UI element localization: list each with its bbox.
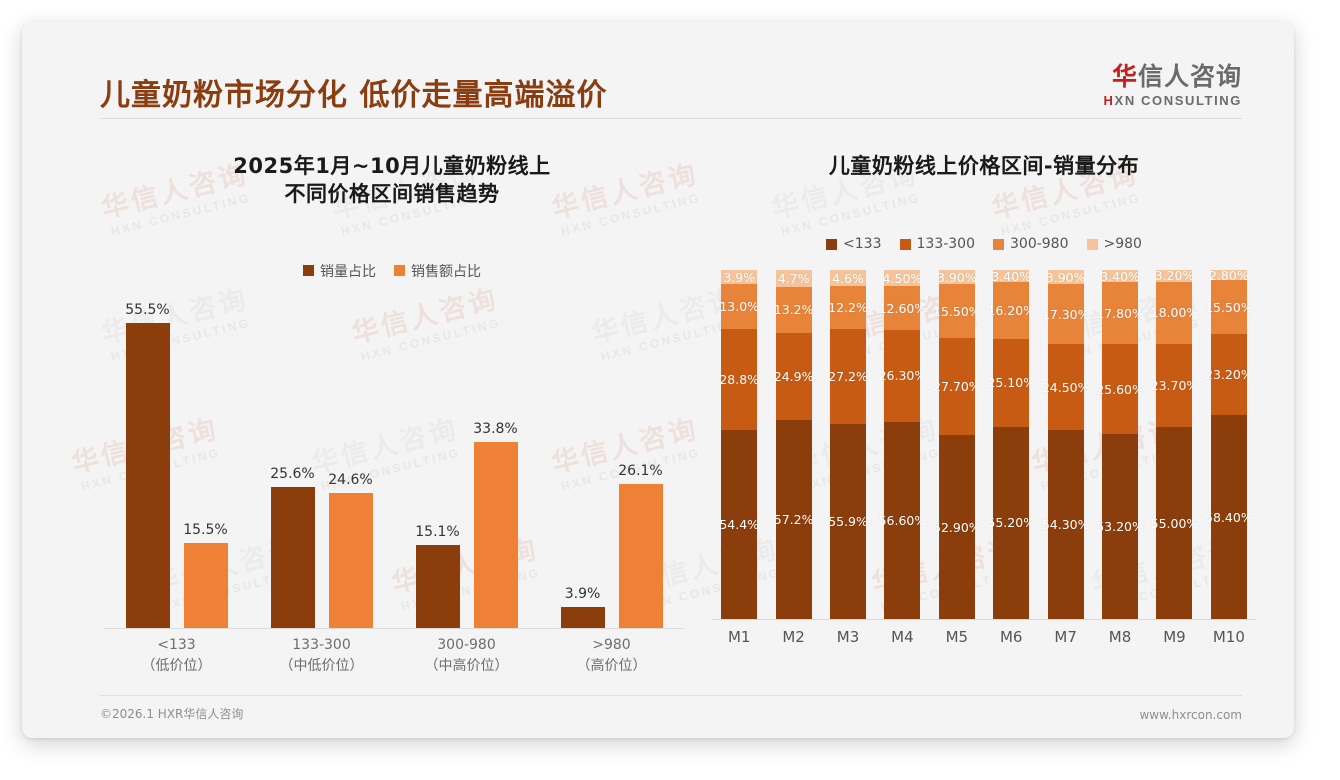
- stacked-segment-label: 16.20%: [987, 303, 1035, 318]
- bar-value-label: 55.5%: [125, 302, 169, 318]
- x-axis-label-range: <133: [104, 635, 249, 656]
- bar-group: 25.6%24.6%: [249, 299, 394, 628]
- legend-item[interactable]: <133: [826, 236, 881, 252]
- stacked-segment-label: 54.4%: [719, 517, 759, 532]
- legend-label: 销售额占比: [411, 261, 481, 281]
- stacked-segment-label: 57.2%: [774, 512, 814, 527]
- x-axis-label: 300-980（中高价位）: [394, 635, 539, 677]
- stacked-segment-label: 27.70%: [933, 379, 981, 394]
- legend-item[interactable]: 销售额占比: [394, 261, 481, 281]
- stacked-bar-column[interactable]: 4.7%13.2%24.9%57.2%: [766, 270, 820, 619]
- bar-column[interactable]: 3.9%: [561, 299, 605, 628]
- bar[interactable]: [561, 607, 605, 628]
- bar-column[interactable]: 55.5%: [126, 299, 170, 628]
- stacked-bar[interactable]: 3.40%17.80%25.60%53.20%: [1102, 270, 1138, 619]
- x-axis-label: M10: [1202, 628, 1256, 646]
- stacked-segment-label: 3.90%: [1046, 270, 1086, 285]
- x-axis-label-range: 300-980: [394, 635, 539, 656]
- right-chart-title: 儿童奶粉线上价格区间-销量分布: [698, 130, 1270, 180]
- stacked-bar-column[interactable]: 3.90%17.30%24.50%54.30%: [1038, 270, 1092, 619]
- x-axis-label-tier: （中低价位）: [249, 656, 394, 677]
- stacked-bar-segment[interactable]: 23.20%: [1211, 334, 1247, 415]
- stacked-segment-label: 53.20%: [1096, 519, 1144, 534]
- header-divider: [100, 118, 1242, 119]
- stacked-bar-segment[interactable]: 4.6%: [830, 270, 866, 286]
- page-title: 儿童奶粉市场分化 低价走量高端溢价: [100, 70, 607, 114]
- stacked-bar-segment[interactable]: 15.50%: [939, 284, 975, 338]
- legend-swatch-icon: [826, 239, 837, 250]
- bar-group: 55.5%15.5%: [104, 299, 249, 628]
- bar[interactable]: [184, 543, 228, 628]
- stacked-bar-segment[interactable]: 28.8%: [721, 329, 757, 429]
- stacked-bar-column[interactable]: 3.90%15.50%27.70%52.90%: [930, 270, 984, 619]
- stacked-segment-label: 15.50%: [933, 304, 981, 319]
- x-axis-label: 133-300（中低价位）: [249, 635, 394, 677]
- stacked-bar-segment[interactable]: 3.9%: [721, 270, 757, 284]
- x-axis-label-tier: （低价位）: [104, 656, 249, 677]
- stacked-bar-column[interactable]: 4.50%12.60%26.30%56.60%: [875, 270, 929, 619]
- left-chart-legend: 销量占比销售额占比: [82, 261, 702, 281]
- legend-swatch-icon: [1087, 239, 1098, 250]
- legend-swatch-icon: [993, 239, 1004, 250]
- stacked-bar-segment[interactable]: 24.50%: [1048, 344, 1084, 430]
- brand-logo: 华信人咨询 HXN CONSULTING: [1104, 64, 1242, 108]
- bar[interactable]: [474, 442, 518, 628]
- stacked-segment-label: 55.20%: [987, 515, 1035, 530]
- stacked-bar-column[interactable]: 2.80%15.50%23.20%58.40%: [1202, 270, 1256, 619]
- stacked-bar[interactable]: 4.6%12.2%27.2%55.9%: [830, 270, 866, 619]
- legend-item[interactable]: 销量占比: [303, 261, 376, 281]
- stacked-bar-segment[interactable]: 53.20%: [1102, 434, 1138, 620]
- chart-panel-left: 2025年1月~10月儿童奶粉线上 不同价格区间销售趋势 销量占比销售额占比 5…: [82, 130, 702, 710]
- stacked-bar-segment[interactable]: 17.30%: [1048, 284, 1084, 344]
- stacked-segment-label: 3.90%: [937, 270, 977, 285]
- bar[interactable]: [619, 484, 663, 628]
- legend-label: 300-980: [1010, 236, 1069, 252]
- stacked-bar-segment[interactable]: 3.90%: [1048, 270, 1084, 284]
- stacked-segment-label: 23.70%: [1151, 378, 1199, 393]
- stacked-bar[interactable]: 2.80%15.50%23.20%58.40%: [1211, 270, 1247, 619]
- bar-value-label: 33.8%: [473, 421, 517, 437]
- bar-value-label: 15.1%: [415, 524, 459, 540]
- footer-divider: [100, 695, 1242, 696]
- stacked-bar-segment[interactable]: 27.70%: [939, 338, 975, 435]
- x-axis-label-tier: （高价位）: [539, 656, 684, 677]
- stacked-bar-segment[interactable]: 4.50%: [884, 270, 920, 286]
- stacked-bar-segment[interactable]: 3.90%: [939, 270, 975, 284]
- bar[interactable]: [271, 487, 315, 628]
- stacked-segment-label: 18.00%: [1151, 305, 1199, 320]
- stacked-bar-segment[interactable]: 23.70%: [1156, 344, 1192, 427]
- stacked-bar-segment[interactable]: 54.30%: [1048, 430, 1084, 619]
- stacked-segment-label: 17.30%: [1042, 307, 1090, 322]
- stacked-bar[interactable]: 3.90%17.30%24.50%54.30%: [1048, 270, 1084, 619]
- stacked-bar-segment[interactable]: 56.60%: [884, 422, 920, 620]
- stacked-segment-label: 56.60%: [879, 513, 927, 528]
- stacked-bar-segment[interactable]: 55.9%: [830, 424, 866, 619]
- left-chart-title-line1: 2025年1月~10月儿童奶粉线上: [82, 152, 702, 180]
- right-chart-x-labels: M1M2M3M4M5M6M7M8M9M10: [712, 628, 1256, 646]
- bar-value-label: 24.6%: [328, 472, 372, 488]
- stacked-segment-label: 25.10%: [987, 375, 1035, 390]
- left-chart-x-labels: <133（低价位）133-300（中低价位）300-980（中高价位）>980（…: [104, 635, 684, 677]
- bar-column[interactable]: 26.1%: [619, 299, 663, 628]
- legend-swatch-icon: [394, 265, 405, 276]
- stacked-bar-segment[interactable]: 55.00%: [1156, 427, 1192, 619]
- stacked-bar-column[interactable]: 3.9%13.0%28.8%54.4%: [712, 270, 766, 619]
- left-chart-plot: 55.5%15.5%25.6%24.6%15.1%33.8%3.9%26.1% …: [82, 299, 702, 629]
- x-axis-label-range: >980: [539, 635, 684, 656]
- left-chart-title-line2: 不同价格区间销售趋势: [82, 180, 702, 208]
- stacked-bar-segment[interactable]: 13.2%: [776, 287, 812, 333]
- x-axis-label: >980（高价位）: [539, 635, 684, 677]
- stacked-segment-label: 23.20%: [1205, 367, 1253, 382]
- stacked-bar-segment[interactable]: 25.60%: [1102, 344, 1138, 433]
- stacked-segment-label: 28.8%: [719, 372, 759, 387]
- stacked-bar-segment[interactable]: 3.40%: [1102, 270, 1138, 282]
- bar-column[interactable]: 24.6%: [329, 299, 373, 628]
- right-chart-x-axis: [712, 619, 1256, 620]
- stacked-bar-segment[interactable]: 57.2%: [776, 420, 812, 620]
- bar-value-label: 26.1%: [618, 463, 662, 479]
- bar[interactable]: [329, 493, 373, 628]
- stacked-segment-label: 12.60%: [879, 301, 927, 316]
- x-axis-label: M3: [821, 628, 875, 646]
- chart-panel-right: 儿童奶粉线上价格区间-销量分布 <133133-300300-980>980 3…: [698, 130, 1270, 710]
- x-axis-label: M6: [984, 628, 1038, 646]
- bar-value-label: 3.9%: [565, 586, 601, 602]
- stacked-bar-segment[interactable]: 13.0%: [721, 284, 757, 329]
- slide-header: 儿童奶粉市场分化 低价走量高端溢价 华信人咨询 HXN CONSULTING: [22, 22, 1294, 96]
- left-chart-x-axis: [104, 628, 684, 629]
- stacked-bar-segment[interactable]: 27.2%: [830, 329, 866, 424]
- logo-en-accent: H: [1104, 93, 1115, 108]
- stacked-bar-segment[interactable]: 3.40%: [993, 270, 1029, 282]
- x-axis-label: M2: [766, 628, 820, 646]
- legend-item[interactable]: 133-300: [900, 236, 976, 252]
- stacked-bar-segment[interactable]: 4.7%: [776, 270, 812, 286]
- stacked-bar-column[interactable]: 4.6%12.2%27.2%55.9%: [821, 270, 875, 619]
- bar-column[interactable]: 25.6%: [271, 299, 315, 628]
- x-axis-label-tier: （中高价位）: [394, 656, 539, 677]
- stacked-bar[interactable]: 3.20%18.00%23.70%55.00%: [1156, 270, 1192, 619]
- stacked-segment-label: 54.30%: [1042, 517, 1090, 532]
- x-axis-label: M8: [1093, 628, 1147, 646]
- stacked-bar-segment[interactable]: 24.9%: [776, 333, 812, 420]
- stacked-segment-label: 25.60%: [1096, 382, 1144, 397]
- stacked-segment-label: 4.50%: [883, 271, 923, 286]
- bar-column[interactable]: 15.5%: [184, 299, 228, 628]
- legend-swatch-icon: [303, 265, 314, 276]
- x-axis-label: M7: [1038, 628, 1092, 646]
- slide-card: 华信人咨询HXN CONSULTING华信人咨询HXN CONSULTING华信…: [22, 22, 1294, 738]
- legend-label: 133-300: [917, 236, 976, 252]
- stacked-bar-column[interactable]: 3.40%16.20%25.10%55.20%: [984, 270, 1038, 619]
- bar-column[interactable]: 33.8%: [474, 299, 518, 628]
- footer-website: www.hxrcon.com: [1139, 708, 1242, 722]
- legend-item[interactable]: 300-980: [993, 236, 1069, 252]
- stacked-segment-label: 4.6%: [832, 271, 864, 286]
- x-axis-label: M9: [1147, 628, 1201, 646]
- footer-copyright: ©2026.1 HXR华信人咨询: [100, 705, 243, 722]
- stacked-bar[interactable]: 3.90%15.50%27.70%52.90%: [939, 270, 975, 619]
- logo-chinese: 华信人咨询: [1104, 64, 1242, 90]
- logo-en-rest: XN CONSULTING: [1115, 93, 1242, 108]
- bar[interactable]: [416, 545, 460, 628]
- stacked-bar[interactable]: 3.40%16.20%25.10%55.20%: [993, 270, 1029, 619]
- stacked-segment-label: 26.30%: [879, 368, 927, 383]
- stacked-bar[interactable]: 4.7%13.2%24.9%57.2%: [776, 270, 812, 619]
- x-axis-label-range: 133-300: [249, 635, 394, 656]
- stacked-segment-label: 17.80%: [1096, 306, 1144, 321]
- bar-group: 3.9%26.1%: [539, 299, 684, 628]
- stacked-bar-segment[interactable]: 58.40%: [1211, 415, 1247, 619]
- stacked-segment-label: 58.40%: [1205, 510, 1253, 525]
- stacked-bar-column[interactable]: 3.40%17.80%25.60%53.20%: [1093, 270, 1147, 619]
- stacked-bar-segment[interactable]: 55.20%: [993, 427, 1029, 620]
- stacked-segment-label: 55.00%: [1151, 516, 1199, 531]
- legend-swatch-icon: [900, 239, 911, 250]
- stacked-bar-segment[interactable]: 12.60%: [884, 286, 920, 330]
- stacked-bar-segment[interactable]: 12.2%: [830, 286, 866, 329]
- stacked-segment-label: 4.7%: [778, 271, 810, 286]
- stacked-bar-segment[interactable]: 15.50%: [1211, 280, 1247, 334]
- stacked-segment-label: 24.9%: [774, 369, 814, 384]
- legend-label: 销量占比: [320, 261, 376, 281]
- bar[interactable]: [126, 323, 170, 628]
- stacked-segment-label: 52.90%: [933, 520, 981, 535]
- right-chart-legend: <133133-300300-980>980: [698, 236, 1270, 252]
- stacked-segment-label: 24.50%: [1042, 380, 1090, 395]
- stacked-bar-segment[interactable]: 26.30%: [884, 330, 920, 422]
- logo-english: HXN CONSULTING: [1104, 93, 1242, 108]
- x-axis-label: M5: [930, 628, 984, 646]
- stacked-segment-label: 12.2%: [828, 300, 868, 315]
- stacked-bar[interactable]: 4.50%12.60%26.30%56.60%: [884, 270, 920, 619]
- bar-value-label: 25.6%: [270, 466, 314, 482]
- legend-label: >980: [1104, 236, 1142, 252]
- logo-accent-char: 华: [1112, 62, 1138, 91]
- stacked-segment-label: 13.0%: [719, 299, 759, 314]
- logo-rest-char: 信人咨询: [1138, 62, 1242, 91]
- bar-value-label: 15.5%: [183, 522, 227, 538]
- stacked-segment-label: 13.2%: [774, 302, 814, 317]
- stacked-bar-segment[interactable]: 3.20%: [1156, 270, 1192, 281]
- stacked-segment-label: 55.9%: [828, 514, 868, 529]
- legend-item[interactable]: >980: [1087, 236, 1142, 252]
- x-axis-label: M1: [712, 628, 766, 646]
- stacked-bar-segment[interactable]: 18.00%: [1156, 282, 1192, 345]
- stacked-bar-segment[interactable]: 54.4%: [721, 430, 757, 620]
- bar-group: 15.1%33.8%: [394, 299, 539, 628]
- stacked-segment-label: 3.9%: [723, 270, 755, 285]
- legend-label: <133: [843, 236, 881, 252]
- x-axis-label: M4: [875, 628, 929, 646]
- stacked-bar-segment[interactable]: 25.10%: [993, 339, 1029, 427]
- charts-area: 2025年1月~10月儿童奶粉线上 不同价格区间销售趋势 销量占比销售额占比 5…: [22, 130, 1294, 710]
- left-chart-title: 2025年1月~10月儿童奶粉线上 不同价格区间销售趋势: [82, 130, 702, 209]
- x-axis-label: <133（低价位）: [104, 635, 249, 677]
- stacked-bar-column[interactable]: 3.20%18.00%23.70%55.00%: [1147, 270, 1201, 619]
- stacked-bar-segment[interactable]: 16.20%: [993, 282, 1029, 339]
- stacked-segment-label: 15.50%: [1205, 300, 1253, 315]
- stacked-bar-segment[interactable]: 52.90%: [939, 435, 975, 620]
- stacked-bar-segment[interactable]: 17.80%: [1102, 282, 1138, 344]
- stacked-bar[interactable]: 3.9%13.0%28.8%54.4%: [721, 270, 757, 619]
- stacked-bar-segment[interactable]: 2.80%: [1211, 270, 1247, 280]
- stacked-segment-label: 27.2%: [828, 369, 868, 384]
- bar-column[interactable]: 15.1%: [416, 299, 460, 628]
- right-chart-plot: 3.9%13.0%28.8%54.4%4.7%13.2%24.9%57.2%4.…: [698, 270, 1270, 620]
